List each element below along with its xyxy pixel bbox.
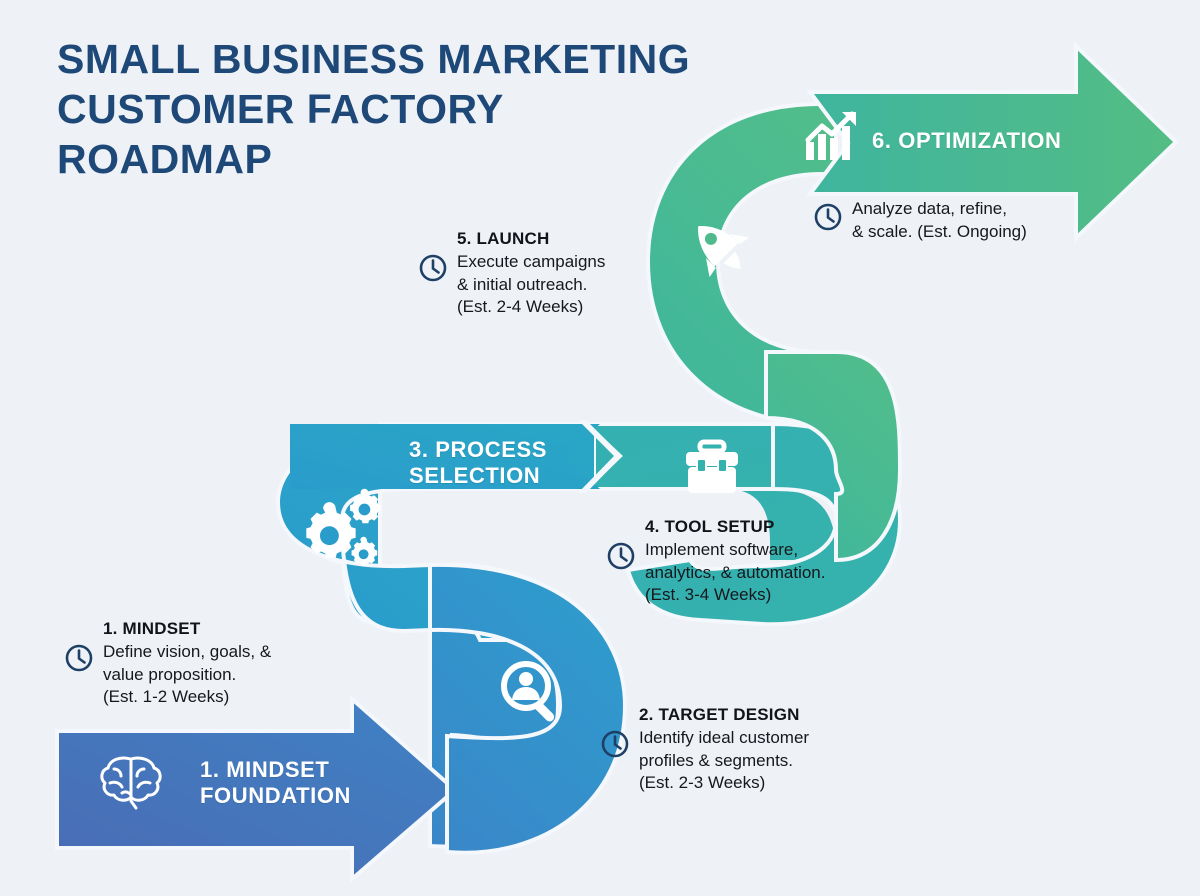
band-label-optimization: 6. OPTIMIZATION	[872, 128, 1061, 154]
callout-step-5: 5. LAUNCH Execute campaigns & initial ou…	[418, 228, 605, 319]
callout-body: Execute campaigns & initial outreach. (E…	[457, 251, 605, 319]
page-title: SMALL BUSINESS MARKETING CUSTOMER FACTOR…	[57, 34, 817, 184]
callout-step-1: 1. MINDSET Define vision, goals, & value…	[64, 618, 271, 709]
infographic-canvas: SMALL BUSINESS MARKETING CUSTOMER FACTOR…	[0, 0, 1200, 896]
callout-body: Analyze data, refine, & scale. (Est. Ong…	[852, 198, 1027, 243]
callout-step-2: 2. TARGET DESIGN Identify ideal customer…	[600, 704, 809, 795]
clock-icon	[64, 643, 94, 678]
callout-heading: 4. TOOL SETUP	[645, 516, 825, 539]
band-label-mindset-foundation: 1. MINDSET FOUNDATION	[200, 757, 351, 809]
clock-icon	[813, 202, 843, 237]
callout-heading: 5. LAUNCH	[457, 228, 605, 251]
callout-heading: 1. MINDSET	[103, 618, 271, 641]
callout-body: Implement software, analytics, & automat…	[645, 539, 825, 607]
callout-step-4: 4. TOOL SETUP Implement software, analyt…	[606, 516, 825, 607]
band-label-process-selection: 3. PROCESS SELECTION	[409, 437, 547, 489]
clock-icon	[606, 541, 636, 576]
clock-icon	[418, 253, 448, 288]
callout-body: Define vision, goals, & value propositio…	[103, 641, 271, 709]
callout-step-6: Analyze data, refine, & scale. (Est. Ong…	[813, 198, 1027, 243]
callout-heading: 2. TARGET DESIGN	[639, 704, 809, 727]
clock-icon	[600, 729, 630, 764]
callout-body: Identify ideal customer profiles & segme…	[639, 727, 809, 795]
